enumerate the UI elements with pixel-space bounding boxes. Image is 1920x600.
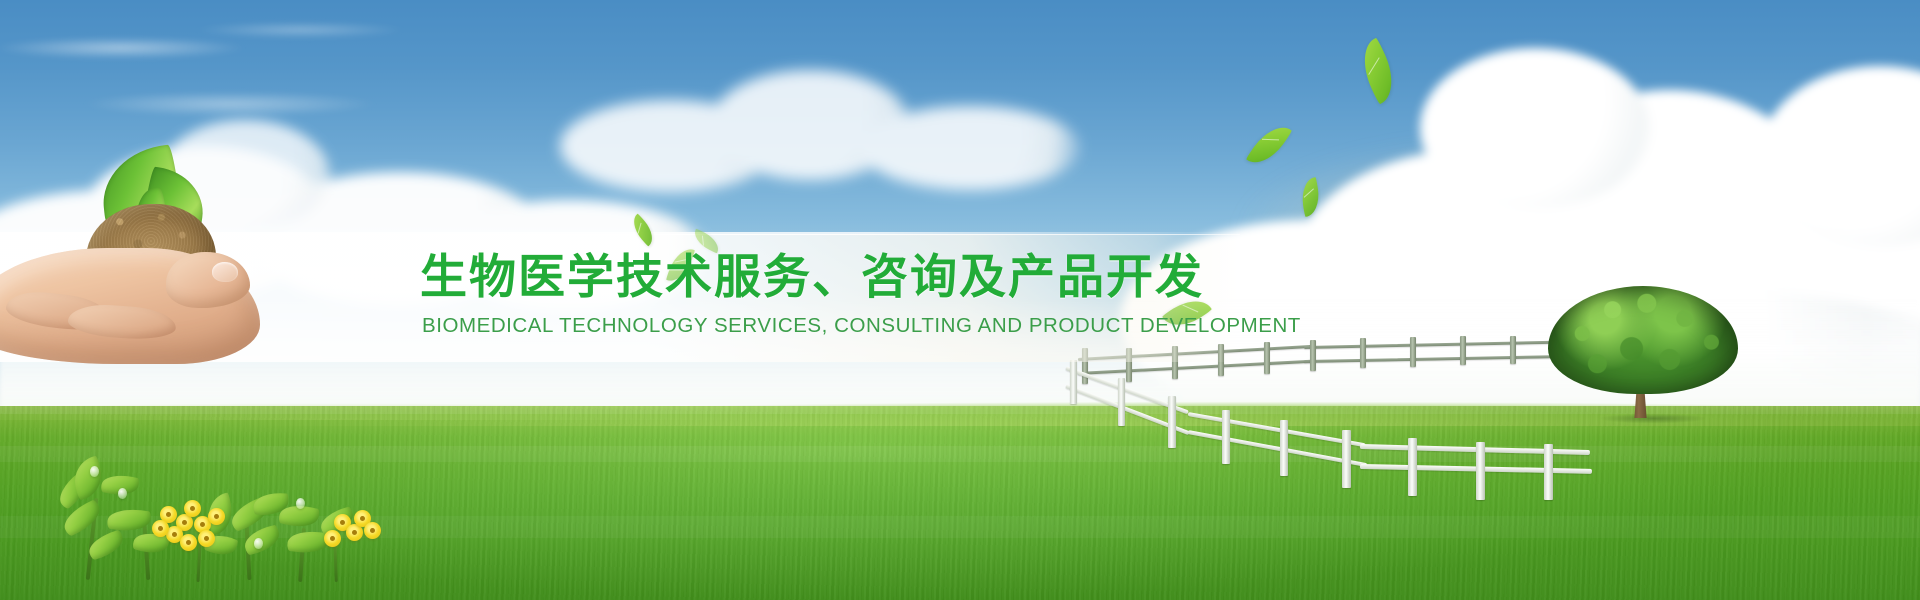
cloud-bank-center (560, 40, 1080, 190)
page-title: 生物医学技术服务、咨询及产品开发 (420, 250, 1220, 305)
tree-foliage-detail (1548, 286, 1738, 394)
thumb (166, 252, 250, 308)
hand-with-sprout-icon (0, 144, 290, 364)
page-subtitle: BIOMEDICAL TECHNOLOGY SERVICES, CONSULTI… (422, 314, 1220, 338)
cirrus-cloud (0, 8, 620, 138)
tree-icon (1548, 286, 1738, 422)
thumb-nail (212, 262, 238, 282)
tree-shadow (1578, 412, 1728, 425)
banner-copy: 生物医学技术服务、咨询及产品开发 BIOMEDICAL TECHNOLOGY S… (420, 250, 1220, 338)
hero-banner: 生物医学技术服务、咨询及产品开发 BIOMEDICAL TECHNOLOGY S… (0, 0, 1920, 600)
foliage-cluster (48, 452, 388, 600)
